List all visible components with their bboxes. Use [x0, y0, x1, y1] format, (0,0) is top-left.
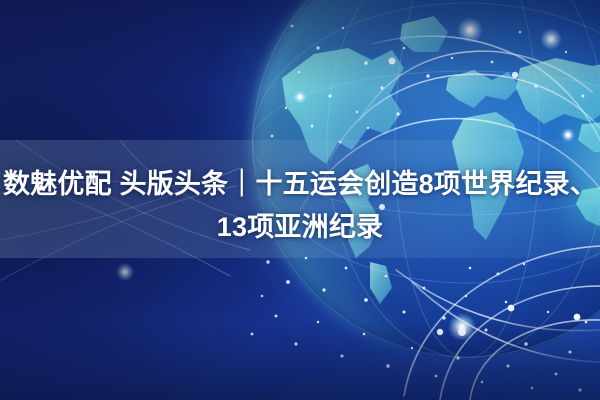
- headline-title: 数魅优配 头版头条｜十五运会创造8项世界纪录、 13项亚洲纪录: [0, 163, 600, 249]
- headline-line-2: 13项亚洲纪录: [0, 206, 600, 249]
- news-banner-image: 数魅优配 头版头条｜十五运会创造8项世界纪录、 13项亚洲纪录: [0, 0, 600, 400]
- headline-line-1: 数魅优配 头版头条｜十五运会创造8项世界纪录、: [0, 163, 600, 206]
